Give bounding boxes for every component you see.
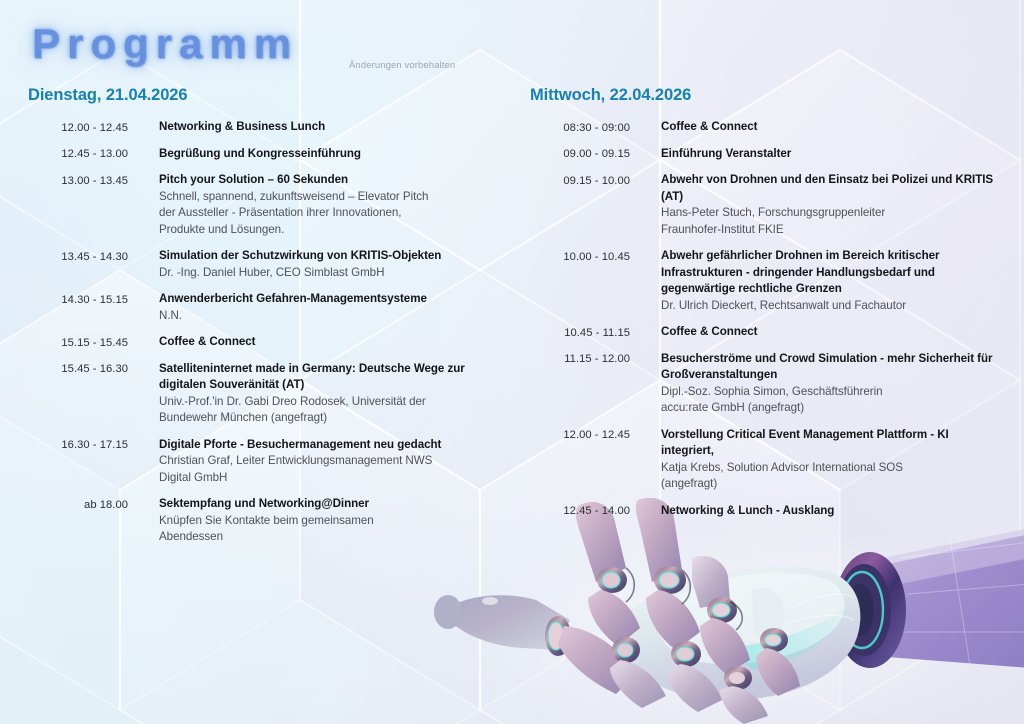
entry-time: 12.00 - 12.45	[530, 427, 630, 444]
entry-body: Abwehr gefährlicher Drohnen im Bereich k…	[630, 248, 1000, 314]
entry-detail-line: der Aussteller - Präsentation ihrer Inno…	[159, 205, 498, 222]
schedule-entry: ab 18.00Sektempfang und Networking@Dinne…	[28, 496, 498, 546]
entry-title: Abwehr von Drohnen und den Einsatz bei P…	[661, 172, 1000, 205]
entry-time: 13.00 - 13.45	[28, 172, 128, 189]
entry-title: Begrüßung und Kongresseinführung	[159, 146, 498, 163]
entry-title: Anwenderbericht Gefahren-Managementsyste…	[159, 291, 498, 308]
schedule-entry: 15.45 - 16.30Satelliteninternet made in …	[28, 361, 498, 427]
entry-detail-line: Schnell, spannend, zukunftsweisend – Ele…	[159, 189, 498, 206]
entry-title: Satelliteninternet made in Germany: Deut…	[159, 361, 498, 394]
entry-detail-line: Bundewehr München (angefragt)	[159, 410, 498, 427]
schedule-entry: 10.45 - 11.15Coffee & Connect	[530, 324, 1000, 341]
entry-body: Vorstellung Critical Event Management Pl…	[630, 427, 1000, 493]
entry-body: Coffee & Connect	[128, 334, 498, 351]
entry-body: Begrüßung und Kongresseinführung	[128, 146, 498, 163]
entry-title: Sektempfang und Networking@Dinner	[159, 496, 498, 513]
entry-detail-line: Fraunhofer-Institut FKIE	[661, 222, 1000, 239]
entry-title: Simulation der Schutzwirkung von KRITIS-…	[159, 248, 498, 265]
program-poster: Programm Änderungen vorbehalten Dienstag…	[0, 0, 1024, 724]
schedule-entry: 08:30 - 09:00Coffee & Connect	[530, 119, 1000, 136]
entry-body: Sektempfang und Networking@DinnerKnüpfen…	[128, 496, 498, 546]
entry-title: Coffee & Connect	[661, 324, 1000, 341]
schedule-entry: 13.00 - 13.45Pitch your Solution – 60 Se…	[28, 172, 498, 238]
entry-body: Coffee & Connect	[630, 324, 1000, 341]
entry-detail-line: Hans-Peter Stuch, Forschungsgruppenleite…	[661, 205, 1000, 222]
entry-body: Abwehr von Drohnen und den Einsatz bei P…	[630, 172, 1000, 238]
entry-title: Einführung Veranstalter	[661, 146, 1000, 163]
entry-body: Pitch your Solution – 60 SekundenSchnell…	[128, 172, 498, 238]
entry-title: Digitale Pforte - Besuchermanagement neu…	[159, 437, 498, 454]
poster-header: Programm Änderungen vorbehalten	[0, 0, 1024, 84]
entry-detail-line: Produkte und Lösungen.	[159, 222, 498, 239]
subject-to-change-note: Änderungen vorbehalten	[349, 60, 455, 71]
entry-time: 09.15 - 10.00	[530, 172, 630, 189]
schedule-entries-day2: 08:30 - 09:00Coffee & Connect09.00 - 09.…	[530, 119, 1000, 519]
entry-time: 08:30 - 09:00	[530, 119, 630, 136]
entry-detail-line: Dr. Ulrich Dieckert, Rechtsanwalt und Fa…	[661, 298, 1000, 315]
entry-title: Coffee & Connect	[159, 334, 498, 351]
day-heading-day2: Mittwoch, 22.04.2026	[530, 86, 1000, 105]
entry-detail-line: Abendessen	[159, 529, 498, 546]
entry-body: Anwenderbericht Gefahren-Managementsyste…	[128, 291, 498, 324]
schedule-entry: 12.45 - 13.00Begrüßung und Kongresseinfü…	[28, 146, 498, 163]
schedule-entry: 09.15 - 10.00Abwehr von Drohnen und den …	[530, 172, 1000, 238]
schedule-column-day2: Mittwoch, 22.04.2026 08:30 - 09:00Coffee…	[530, 86, 1000, 529]
day-heading-day1: Dienstag, 21.04.2026	[28, 86, 498, 105]
entry-time: 12.00 - 12.45	[28, 119, 128, 136]
entry-title: Vorstellung Critical Event Management Pl…	[661, 427, 1000, 460]
entry-time: ab 18.00	[28, 496, 128, 513]
entry-detail-line: Digital GmbH	[159, 470, 498, 487]
schedule-column-day1: Dienstag, 21.04.2026 12.00 - 12.45Networ…	[28, 86, 498, 556]
entry-detail-line: Univ.-Prof.'in Dr. Gabi Dreo Rodosek, Un…	[159, 394, 498, 411]
entry-body: Besucherströme und Crowd Simulation - me…	[630, 351, 1000, 417]
entry-body: Networking & Lunch - Ausklang	[630, 503, 1000, 520]
entry-title: Networking & Lunch - Ausklang	[661, 503, 1000, 520]
entry-body: Coffee & Connect	[630, 119, 1000, 136]
entry-detail-line: N.N.	[159, 308, 498, 325]
entry-time: 10.00 - 10.45	[530, 248, 630, 265]
schedule-entry: 14.30 - 15.15Anwenderbericht Gefahren-Ma…	[28, 291, 498, 324]
entry-body: Digitale Pforte - Besuchermanagement neu…	[128, 437, 498, 487]
entry-time: 11.15 - 12.00	[530, 351, 630, 368]
entry-body: Networking & Business Lunch	[128, 119, 498, 136]
entry-time: 10.45 - 11.15	[530, 324, 630, 341]
entry-title: Abwehr gefährlicher Drohnen im Bereich k…	[661, 248, 1000, 298]
entry-title: Networking & Business Lunch	[159, 119, 498, 136]
schedule-entry: 15.15 - 15.45Coffee & Connect	[28, 334, 498, 351]
entry-body: Satelliteninternet made in Germany: Deut…	[128, 361, 498, 427]
entry-detail-line: (angefragt)	[661, 476, 1000, 493]
schedule-entry: 13.45 - 14.30Simulation der Schutzwirkun…	[28, 248, 498, 281]
entry-time: 15.15 - 15.45	[28, 334, 128, 351]
schedule-entry: 12.00 - 12.45Networking & Business Lunch	[28, 119, 498, 136]
entry-detail-line: accu:rate GmbH (angefragt)	[661, 400, 1000, 417]
entry-title: Besucherströme und Crowd Simulation - me…	[661, 351, 1000, 384]
entry-time: 12.45 - 14.00	[530, 503, 630, 520]
schedule-entry: 10.00 - 10.45Abwehr gefährlicher Drohnen…	[530, 248, 1000, 314]
entry-time: 15.45 - 16.30	[28, 361, 128, 378]
entry-detail-line: Katja Krebs, Solution Advisor Internatio…	[661, 460, 1000, 477]
schedule-entry: 12.45 - 14.00Networking & Lunch - Auskla…	[530, 503, 1000, 520]
schedule-entry: 09.00 - 09.15Einführung Veranstalter	[530, 146, 1000, 163]
entry-title: Coffee & Connect	[661, 119, 1000, 136]
entry-title: Pitch your Solution – 60 Sekunden	[159, 172, 498, 189]
schedule-entry: 11.15 - 12.00Besucherströme und Crowd Si…	[530, 351, 1000, 417]
schedule-entries-day1: 12.00 - 12.45Networking & Business Lunch…	[28, 119, 498, 546]
entry-time: 14.30 - 15.15	[28, 291, 128, 308]
robot-hand-image	[430, 498, 1024, 724]
entry-body: Simulation der Schutzwirkung von KRITIS-…	[128, 248, 498, 281]
entry-detail-line: Knüpfen Sie Kontakte beim gemeinsamen	[159, 513, 498, 530]
entry-time: 13.45 - 14.30	[28, 248, 128, 265]
entry-time: 09.00 - 09.15	[530, 146, 630, 163]
entry-detail-line: Christian Graf, Leiter Entwicklungsmanag…	[159, 453, 498, 470]
entry-body: Einführung Veranstalter	[630, 146, 1000, 163]
page-title: Programm	[32, 20, 298, 68]
entry-time: 16.30 - 17.15	[28, 437, 128, 454]
entry-detail-line: Dipl.-Soz. Sophia Simon, Geschäftsführer…	[661, 384, 1000, 401]
entry-time: 12.45 - 13.00	[28, 146, 128, 163]
schedule-entry: 16.30 - 17.15Digitale Pforte - Besucherm…	[28, 437, 498, 487]
entry-detail-line: Dr. -Ing. Daniel Huber, CEO Simblast Gmb…	[159, 265, 498, 282]
schedule-entry: 12.00 - 12.45Vorstellung Critical Event …	[530, 427, 1000, 493]
